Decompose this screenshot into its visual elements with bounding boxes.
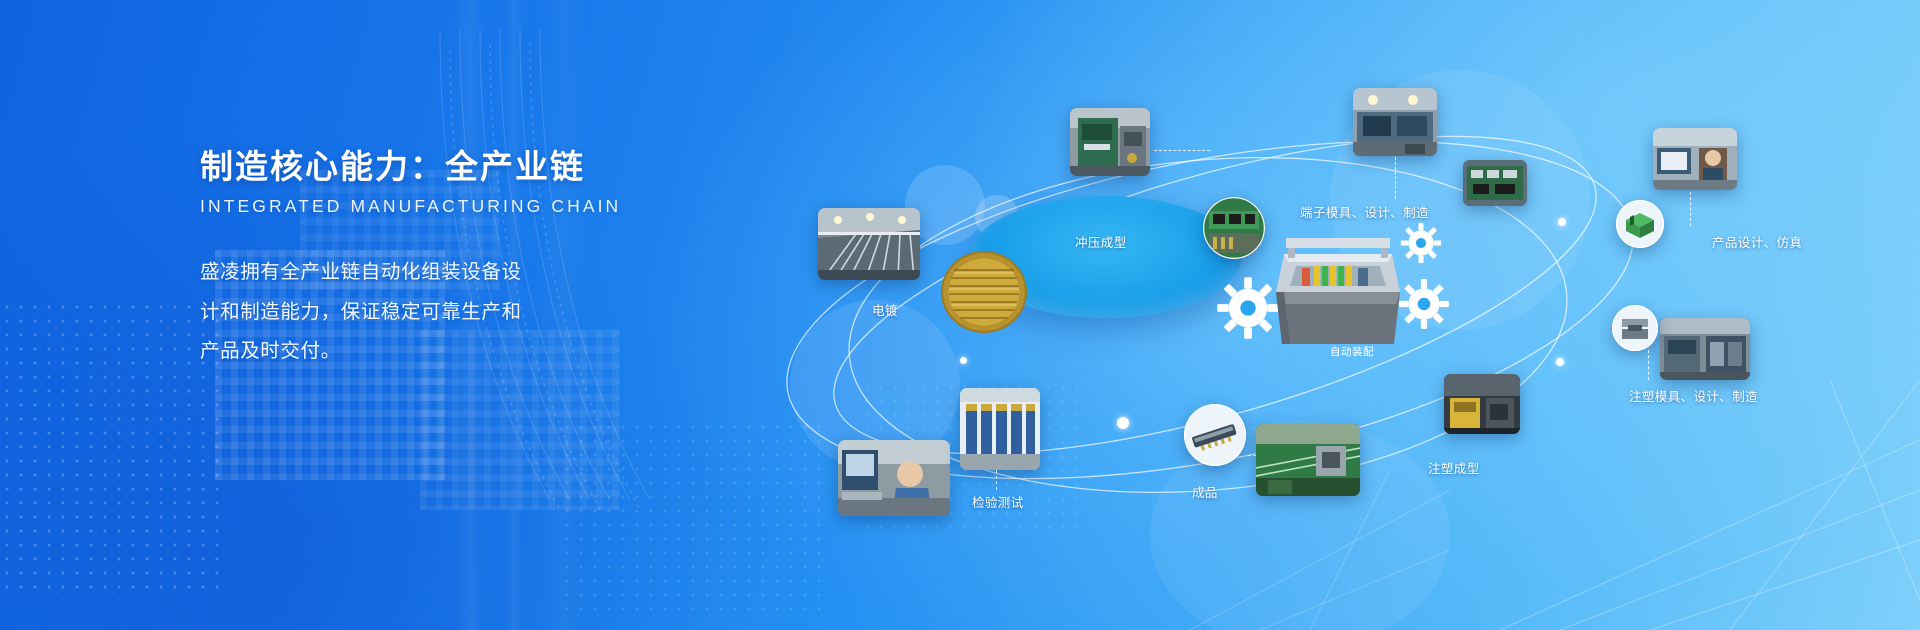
orbit-dot xyxy=(1117,417,1129,429)
banner-title: 制造核心能力：全产业链 xyxy=(200,146,620,187)
connector-dash xyxy=(1690,192,1691,226)
thumb-pcb-small[interactable] xyxy=(1463,160,1527,206)
connector-dash xyxy=(1648,350,1649,380)
label-product-design: 产品设计、仿真 xyxy=(1712,232,1802,251)
production-line-photo xyxy=(1256,424,1360,496)
dot-matrix xyxy=(0,300,220,600)
orbit-dot xyxy=(960,357,967,364)
injection-forming-photo xyxy=(1444,374,1520,434)
stamping-photo xyxy=(1070,108,1150,176)
thumb-production-line[interactable] xyxy=(1256,424,1360,496)
label-finished-product: 成品 xyxy=(1192,482,1218,501)
center-platform xyxy=(970,196,1242,318)
electroplating-photo xyxy=(818,208,920,280)
mold-icon xyxy=(1612,305,1658,351)
thumb-injection-mold[interactable] xyxy=(1660,318,1750,380)
label-stamping: 冲压成型 xyxy=(1075,232,1127,251)
automatic-assembly-machine[interactable] xyxy=(1262,232,1414,360)
label-terminal-mold: 端子模具、设计、制造 xyxy=(1300,202,1429,221)
crossing-lines-decoration xyxy=(1500,380,1920,630)
banner-stage: 制造核心能力：全产业链 INTEGRATED MANUFACTURING CHA… xyxy=(0,0,1920,630)
connector-dash xyxy=(1395,157,1396,199)
banner-description: 盛凌拥有全产业链自动化组装设备设 计和制造能力，保证稳定可靠生产和 产品及时交付… xyxy=(200,253,620,371)
thumb-finished-product[interactable] xyxy=(1184,404,1246,466)
pcb-photo xyxy=(1203,197,1265,259)
thumb-stamping[interactable] xyxy=(1070,108,1150,176)
thumb-pcb-round[interactable] xyxy=(1203,197,1265,259)
terminal-mold-photo xyxy=(1353,88,1437,156)
thumb-3d-model[interactable] xyxy=(1616,200,1664,248)
label-electroplating: 电镀 xyxy=(872,300,898,319)
description-line: 计和制造能力，保证稳定可靠生产和 xyxy=(200,293,620,332)
thumb-electroplating[interactable] xyxy=(818,208,920,280)
description-line: 产品及时交付。 xyxy=(200,332,620,371)
pcb-small-photo xyxy=(1463,160,1527,206)
thumb-injection-forming[interactable] xyxy=(1444,374,1520,434)
label-inspection-test: 检验测试 xyxy=(972,492,1024,511)
finished-product-icon xyxy=(1184,404,1246,466)
product-design-photo xyxy=(1653,128,1737,190)
test-rack-photo xyxy=(960,388,1040,470)
thumb-mold-icon[interactable] xyxy=(1612,305,1658,351)
label-injection-mold: 注塑模具、设计、制造 xyxy=(1629,386,1758,405)
connector-dash xyxy=(1154,150,1210,151)
description-line: 盛凌拥有全产业链自动化组装设备设 xyxy=(200,253,620,292)
thumb-inspection-test[interactable] xyxy=(838,440,950,516)
connector-dash xyxy=(996,470,997,490)
thumb-product-design[interactable] xyxy=(1653,128,1737,190)
inspection-test-photo xyxy=(838,440,950,516)
center-label: 自动装配 xyxy=(1330,344,1374,359)
orbit-dot xyxy=(1556,358,1564,366)
label-injection-forming: 注塑成型 xyxy=(1428,458,1480,477)
thumb-test-rack[interactable] xyxy=(960,388,1040,470)
injection-mold-photo xyxy=(1660,318,1750,380)
orbit-dot xyxy=(1558,218,1566,226)
banner-subtitle: INTEGRATED MANUFACTURING CHAIN xyxy=(200,196,620,217)
3d-model-icon xyxy=(1616,200,1664,248)
dot-matrix xyxy=(560,420,820,610)
thumb-terminal-mold[interactable] xyxy=(1353,88,1437,156)
banner-copy: 制造核心能力：全产业链 INTEGRATED MANUFACTURING CHA… xyxy=(200,146,620,371)
